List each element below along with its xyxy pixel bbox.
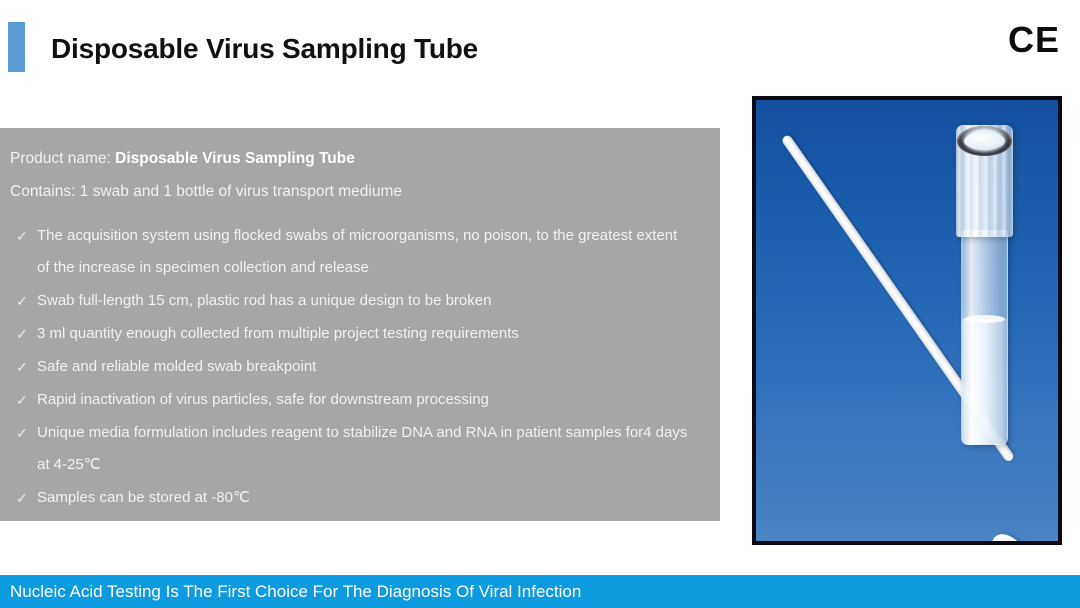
contains-line: Contains: 1 swab and 1 bottle of virus t… — [10, 175, 702, 208]
transport-medium-liquid-graphic — [962, 319, 1007, 444]
product-name-value: Disposable Virus Sampling Tube — [115, 150, 355, 167]
check-icon: ✓ — [10, 482, 37, 514]
page-title: Disposable Virus Sampling Tube — [51, 33, 478, 65]
product-info-panel: Product name: Disposable Virus Sampling … — [0, 128, 720, 521]
feature-text: Samples can be stored at -80℃ — [37, 482, 250, 514]
list-item: ✓ Samples can be stored at -80℃ — [10, 482, 702, 514]
sampling-tube-oring-graphic — [957, 126, 1012, 156]
product-name-label: Product name: — [10, 150, 111, 167]
product-photo — [752, 96, 1062, 545]
slide-canvas: Disposable Virus Sampling Tube CE Produc… — [0, 0, 1080, 608]
check-icon: ✓ — [10, 285, 37, 317]
sampling-tube-body-graphic — [961, 230, 1008, 445]
list-item: ✓ Swab full-length 15 cm, plastic rod ha… — [10, 285, 702, 317]
feature-text: Rapid inactivation of virus particles, s… — [37, 384, 489, 416]
check-icon: ✓ — [10, 384, 37, 416]
feature-text: Swab full-length 15 cm, plastic rod has … — [37, 285, 491, 317]
check-icon: ✓ — [10, 220, 37, 252]
list-item: ✓ The acquisition system using flocked s… — [10, 220, 702, 284]
feature-list: ✓ The acquisition system using flocked s… — [10, 220, 702, 514]
banner-text: Nucleic Acid Testing Is The First Choice… — [0, 582, 581, 602]
feature-text: Safe and reliable molded swab breakpoint — [37, 351, 316, 383]
list-item: ✓ Rapid inactivation of virus particles,… — [10, 384, 702, 416]
feature-text: The acquisition system using flocked swa… — [37, 220, 692, 284]
list-item: ✓ Unique media formulation includes reag… — [10, 417, 702, 481]
bottom-banner: Nucleic Acid Testing Is The First Choice… — [0, 575, 1080, 608]
list-item: ✓ 3 ml quantity enough collected from mu… — [10, 318, 702, 350]
check-icon: ✓ — [10, 417, 37, 449]
check-icon: ✓ — [10, 351, 37, 383]
list-item: ✓ Safe and reliable molded swab breakpoi… — [10, 351, 702, 383]
feature-text: 3 ml quantity enough collected from mult… — [37, 318, 519, 350]
product-name-line: Product name: Disposable Virus Sampling … — [10, 142, 702, 175]
ce-mark-logo: CE — [1008, 22, 1060, 58]
check-icon: ✓ — [10, 318, 37, 350]
feature-text: Unique media formulation includes reagen… — [37, 417, 692, 481]
title-accent-bar — [8, 22, 25, 72]
